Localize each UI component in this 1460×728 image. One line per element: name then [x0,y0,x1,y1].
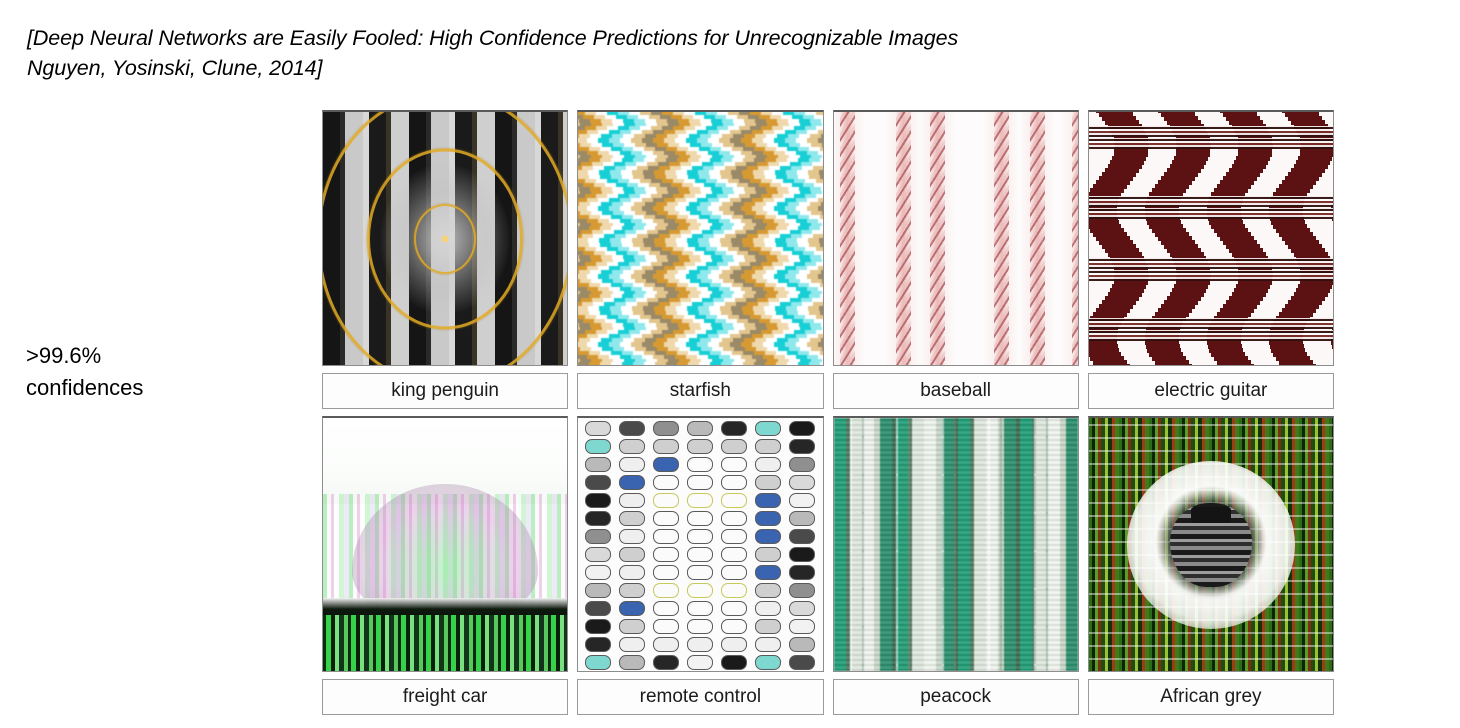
wave-segment [677,110,690,111]
button-cell [585,637,611,652]
wave-segment [809,110,822,111]
wave-segment [732,110,745,111]
wave-segment [822,278,823,283]
button-cell [653,601,679,616]
button-cell [585,529,611,544]
button-cell [585,619,611,634]
button-cell [789,439,815,454]
wave-segment [820,110,824,111]
button-cell [687,475,713,490]
image-row-2 [322,416,1334,672]
label-starfish: starfish [577,373,823,409]
button-cell [755,619,781,634]
label-row-1: king penguin starfish baseball electric … [322,373,1334,409]
button-cell [585,655,611,670]
button-cell [619,421,645,436]
synthetic-image-baseball [833,110,1079,366]
chevron-row [834,416,1078,438]
button-cell [687,457,713,472]
button-cell [721,493,747,508]
button-cell [755,565,781,580]
confidence-caption: >99.6% confidences [26,340,276,404]
button-cell [619,511,645,526]
guitar-wave-segment [1158,364,1192,366]
label-african-grey: African grey [1088,679,1334,715]
button-cell [755,601,781,616]
texture-maroon-s-waves [1089,112,1333,365]
button-cell [755,511,781,526]
chevron-row [834,664,1078,672]
row-divider [322,409,1334,416]
button-cell [755,457,781,472]
horizontal-stripe-bar [1089,126,1333,137]
guitar-wave-segment [1333,220,1334,225]
wave-segment [820,362,824,366]
horizontal-stripe-bar [1089,330,1333,341]
button-cell [721,529,747,544]
button-cell [755,475,781,490]
chevron-row [834,512,1078,552]
button-cell [687,547,713,562]
button-cell [789,529,815,544]
button-cell [755,529,781,544]
horizontal-stripe-bar [1089,208,1333,219]
wave-segment [818,138,823,143]
button-cell [687,439,713,454]
button-cell [721,583,747,598]
wave-segment [823,298,824,303]
guitar-wave-segment [1333,196,1334,201]
confidence-word: confidences [26,372,276,404]
button-cell [721,421,747,436]
button-cell [619,493,645,508]
wave-segment [823,230,824,235]
synthetic-image-electric-guitar [1088,110,1334,366]
button-cell [789,493,815,508]
image-row-1 [322,110,1334,366]
button-cell [789,655,815,670]
synthetic-image-freight-car [322,416,568,672]
wave-segment [721,110,734,111]
button-cell [653,547,679,562]
button-cell [619,637,645,652]
wave-segment [666,110,679,111]
wave-segment [622,110,635,111]
wave-segment [787,110,800,111]
button-cell [721,655,747,670]
button-cell [721,547,747,562]
button-cell [585,547,611,562]
horizontal-stripe-bar [1089,318,1333,329]
stitch-stripe [840,110,855,366]
texture-streaks-with-blob [1089,418,1333,671]
button-cell [619,655,645,670]
button-cell [755,637,781,652]
button-cell [687,421,713,436]
button-cell [585,565,611,580]
wave-segment [823,162,824,167]
button-cell [653,655,679,670]
stitch-stripe [930,110,945,366]
button-cell [619,619,645,634]
button-cell [687,493,713,508]
button-cell [619,547,645,562]
button-cell [687,601,713,616]
button-cell [721,565,747,580]
button-cell [687,619,713,634]
button-cell [789,511,815,526]
wave-segment [818,206,823,211]
wave-segment [776,110,789,111]
button-cell [789,547,815,562]
button-cell [755,421,781,436]
button-cell [585,421,611,436]
synthetic-image-remote-control [577,416,823,672]
synthetic-image-african-grey [1088,416,1334,672]
button-cell [619,601,645,616]
horizontal-stripe-bar [1089,258,1333,269]
button-cell [721,457,747,472]
stitch-stripe [1030,110,1045,366]
texture-button-grid [578,418,822,671]
fooling-images-grid: king penguin starfish baseball electric … [322,110,1334,715]
button-cell [653,637,679,652]
chevron-row [834,626,1078,666]
wave-segment [820,310,824,315]
synthetic-image-king-penguin [322,110,568,366]
wave-segment [822,346,823,351]
guitar-wave-segment [1096,364,1130,366]
paper-citation: [Deep Neural Networks are Easily Fooled:… [27,23,1367,83]
wave-segment [699,110,712,111]
chevron-row [834,588,1078,628]
guitar-wave-segment [1333,324,1334,329]
green-base-band [323,615,567,671]
button-cell [653,511,679,526]
button-cell [585,583,611,598]
button-cell [721,619,747,634]
wave-segment [644,110,657,111]
center-dot [442,235,449,242]
wave-segment [589,110,602,111]
label-king-penguin: king penguin [322,373,568,409]
button-cell [653,529,679,544]
button-cell [619,439,645,454]
guitar-wave-segment [1220,364,1254,366]
wave-segment [818,342,823,347]
button-cell [755,583,781,598]
label-row-2: freight car remote control peacock Afric… [322,679,1334,715]
button-cell [619,583,645,598]
button-cell [721,601,747,616]
button-cell [687,565,713,580]
wave-segment [578,110,591,111]
button-cell [755,493,781,508]
confidence-value: >99.6% [26,340,276,372]
button-cell [721,637,747,652]
wave-segment [818,274,823,279]
button-cell [619,475,645,490]
button-cell [619,529,645,544]
button-cell [585,439,611,454]
wave-segment [822,142,823,147]
chevron-row [834,474,1078,514]
wave-segment [743,110,756,111]
wave-segment [820,242,824,247]
synthetic-image-peacock [833,416,1079,672]
label-peacock: peacock [833,679,1079,715]
button-cell [721,475,747,490]
label-baseball: baseball [833,373,1079,409]
label-remote-control: remote control [577,679,823,715]
wave-segment [820,174,824,179]
button-cell [755,547,781,562]
button-cell [755,439,781,454]
texture-green-chevrons [834,418,1078,671]
horizontal-stripe-bar [1089,196,1333,207]
label-freight-car: freight car [322,679,568,715]
button-cell [789,637,815,652]
chevron-row [834,550,1078,590]
horizontal-stripe-bar [1089,270,1333,281]
stitch-stripe [896,110,911,366]
button-cell [721,439,747,454]
button-cell [789,583,815,598]
button-cell [653,457,679,472]
button-cell [789,421,815,436]
horizontal-stripe-bar [1089,138,1333,149]
synthetic-image-starfish [577,110,823,366]
button-cell [789,457,815,472]
guitar-wave-segment [1282,364,1316,366]
button-cell [789,619,815,634]
button-cell [755,655,781,670]
button-cell [585,475,611,490]
button-cell [789,601,815,616]
wave-segment [816,110,824,115]
wave-segment [765,110,778,111]
wave-segment [600,110,613,111]
button-cell [585,511,611,526]
button-cell [653,619,679,634]
button-cell [789,565,815,580]
texture-vertical-stitches [834,112,1078,365]
button-cell [687,637,713,652]
button-cell [585,601,611,616]
button-cell [653,421,679,436]
chevron-row [834,436,1078,476]
button-cell [687,529,713,544]
wave-segment [798,110,811,111]
texture-pastel-arch [323,418,567,671]
button-cell [653,583,679,598]
wave-segment [577,110,579,111]
wave-segment [633,110,646,111]
button-cell [687,511,713,526]
stitch-stripe [994,110,1009,366]
button-cell [653,493,679,508]
button-cell [585,493,611,508]
button-cell [721,511,747,526]
button-cell [687,655,713,670]
button-cell [789,475,815,490]
wave-segment [655,110,668,111]
wave-segment [611,110,624,111]
wave-segment [754,110,767,111]
button-cell [585,457,611,472]
texture-concentric-bands [323,112,567,365]
texture-zigzag-waves [578,112,822,365]
button-cell [619,565,645,580]
button-cell [653,439,679,454]
guitar-wave-segment [1333,348,1334,353]
core-cap [1191,507,1231,523]
label-electric-guitar: electric guitar [1088,373,1334,409]
button-cell [687,583,713,598]
stitch-stripe [1072,110,1079,366]
button-cell [653,475,679,490]
wave-segment [688,110,701,111]
button-cell [619,457,645,472]
button-cell [653,565,679,580]
wave-segment [822,210,823,215]
wave-segment [710,110,723,111]
